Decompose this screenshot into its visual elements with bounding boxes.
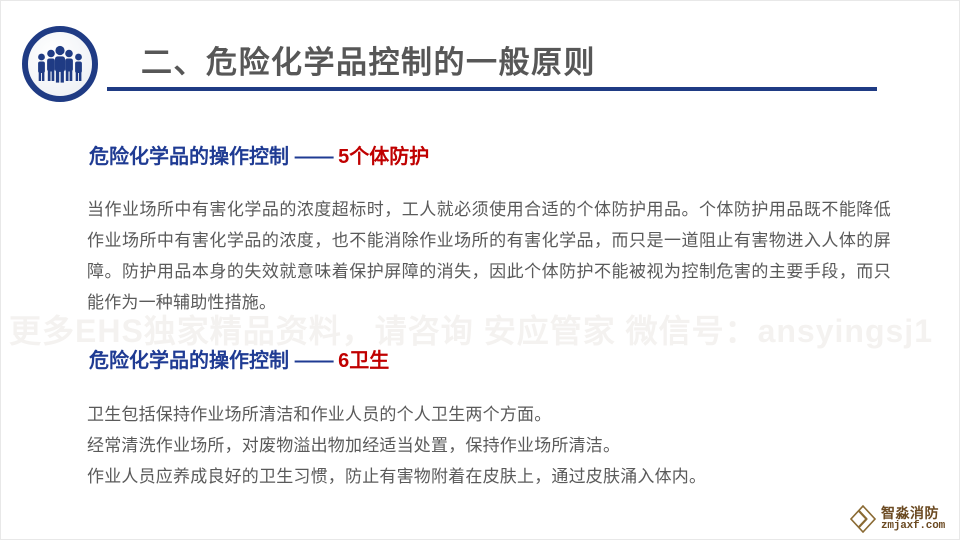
- footer-logo: 智淼消防 zmjaxf.com: [850, 505, 945, 533]
- section-heading-dash: ——: [295, 350, 333, 372]
- header-divider: [107, 87, 877, 91]
- slide-header: 二、危险化学品控制的一般原则: [1, 1, 960, 111]
- section-heading: 危险化学品的操作控制 —— 5个体防护: [89, 147, 429, 167]
- section-heading-main: 危险化学品的操作控制: [89, 350, 289, 372]
- section-heading-main: 危险化学品的操作控制: [89, 146, 289, 168]
- body-paragraph: 经常清洗作业场所，对废物溢出物加经适当处置，保持作业场所清洁。: [87, 430, 907, 461]
- section-heading: 危险化学品的操作控制 —— 6卫生: [89, 351, 389, 371]
- page-title: 二、危险化学品控制的一般原则: [141, 37, 596, 82]
- footer-logo-text: 智淼消防 zmjaxf.com: [881, 506, 945, 532]
- footer-logo-url: zmjaxf.com: [881, 521, 945, 533]
- section-body: 卫生包括保持作业场所清洁和作业人员的个人卫生两个方面。 经常清洗作业场所，对废物…: [87, 399, 907, 492]
- footer-logo-name: 智淼消防: [881, 506, 945, 521]
- section-body: 当作业场所中有害化学品的浓度超标时，工人就必须使用合适的个体防护用品。个体防护用…: [87, 194, 891, 318]
- section-heading-dash: ——: [295, 146, 333, 168]
- section-heading-accent: 5个体防护: [338, 146, 429, 168]
- slide-canvas: 更多EHS独家精品资料，请咨询 安应管家 微信号：ansyingsj1: [0, 0, 960, 540]
- diamond-chevron-icon: [850, 505, 876, 533]
- body-paragraph: 卫生包括保持作业场所清洁和作业人员的个人卫生两个方面。: [87, 399, 907, 430]
- body-paragraph: 作业人员应养成良好的卫生习惯，防止有害物附着在皮肤上，通过皮肤涌入体内。: [87, 461, 907, 492]
- section-heading-accent: 6卫生: [338, 350, 389, 372]
- people-group-icon: [22, 26, 98, 102]
- body-paragraph: 当作业场所中有害化学品的浓度超标时，工人就必须使用合适的个体防护用品。个体防护用…: [87, 194, 891, 318]
